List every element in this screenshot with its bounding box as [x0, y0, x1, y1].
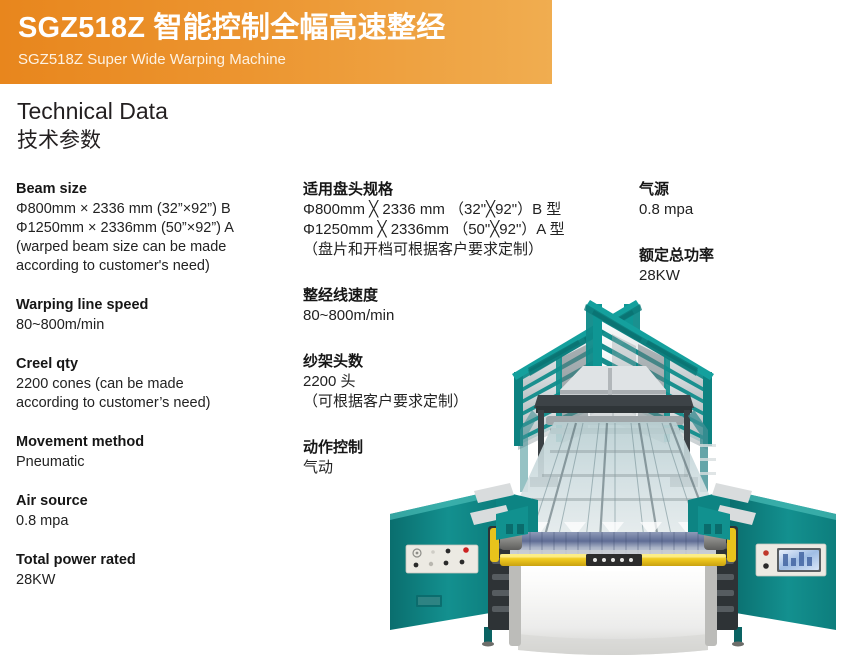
- spec-item: 额定总功率 28KW: [639, 246, 839, 286]
- spec-column-english: Beam size Φ800mm × 2336 mm (32”×92”) B Φ…: [16, 180, 302, 590]
- banner-subtitle: SGZ518Z Super Wide Warping Machine: [18, 49, 552, 71]
- spec-label: Warping line speed: [16, 296, 302, 315]
- spec-item: Movement method Pneumatic: [16, 433, 302, 472]
- spec-item: Creel qty 2200 cones (can be made accord…: [16, 355, 302, 413]
- spec-label: 适用盘头规格: [303, 180, 625, 199]
- spec-label: 气源: [639, 180, 839, 199]
- spec-item: Beam size Φ800mm × 2336 mm (32”×92”) B Φ…: [16, 180, 302, 276]
- right-hmi-panel[interactable]: [756, 544, 826, 576]
- spec-label: Movement method: [16, 433, 302, 452]
- spec-label: Air source: [16, 492, 302, 511]
- warp-beam-assembly: [488, 526, 738, 655]
- section-heading: Technical Data 技术参数: [17, 96, 168, 156]
- section-heading-cn: 技术参数: [17, 126, 168, 156]
- banner-title-cn: 智能控制全幅高速整经: [153, 12, 445, 44]
- spec-item: Warping line speed 80~800m/min: [16, 296, 302, 335]
- product-photo-warping-machine: [378, 282, 848, 658]
- banner-title-model: SGZ518Z: [18, 12, 145, 44]
- spec-value: 0.8 mpa: [639, 200, 839, 220]
- spec-value: Φ800mm ╳ 2336 mm （32"╳92"）B 型 Φ1250mm ╳ …: [303, 200, 625, 260]
- spec-label: Beam size: [16, 180, 302, 199]
- spec-item: Air source 0.8 mpa: [16, 492, 302, 531]
- spec-value: 28KW: [16, 571, 302, 590]
- spec-label: Total power rated: [16, 551, 302, 570]
- section-heading-en: Technical Data: [17, 96, 168, 126]
- spec-item: Total power rated 28KW: [16, 551, 302, 590]
- spec-column-chinese-side: 气源 0.8 mpa 额定总功率 28KW: [639, 180, 839, 286]
- spec-value: 2200 cones (can be made according to cus…: [16, 375, 302, 413]
- banner-title: SGZ518Z 智能控制全幅高速整经: [18, 9, 552, 47]
- spec-label: 额定总功率: [639, 246, 839, 265]
- page-header-banner: SGZ518Z 智能控制全幅高速整经 SGZ518Z Super Wide Wa…: [0, 0, 552, 84]
- spec-value: Pneumatic: [16, 453, 302, 472]
- spec-value: 0.8 mpa: [16, 512, 302, 531]
- spec-label: Creel qty: [16, 355, 302, 374]
- spec-item: 适用盘头规格 Φ800mm ╳ 2336 mm （32"╳92"）B 型 Φ12…: [303, 180, 625, 260]
- spec-item: 气源 0.8 mpa: [639, 180, 839, 220]
- left-control-panel[interactable]: [406, 545, 478, 573]
- bar-indicator-box[interactable]: [586, 554, 642, 566]
- spec-value: 80~800m/min: [16, 316, 302, 335]
- spec-value: Φ800mm × 2336 mm (32”×92”) B Φ1250mm × 2…: [16, 200, 302, 276]
